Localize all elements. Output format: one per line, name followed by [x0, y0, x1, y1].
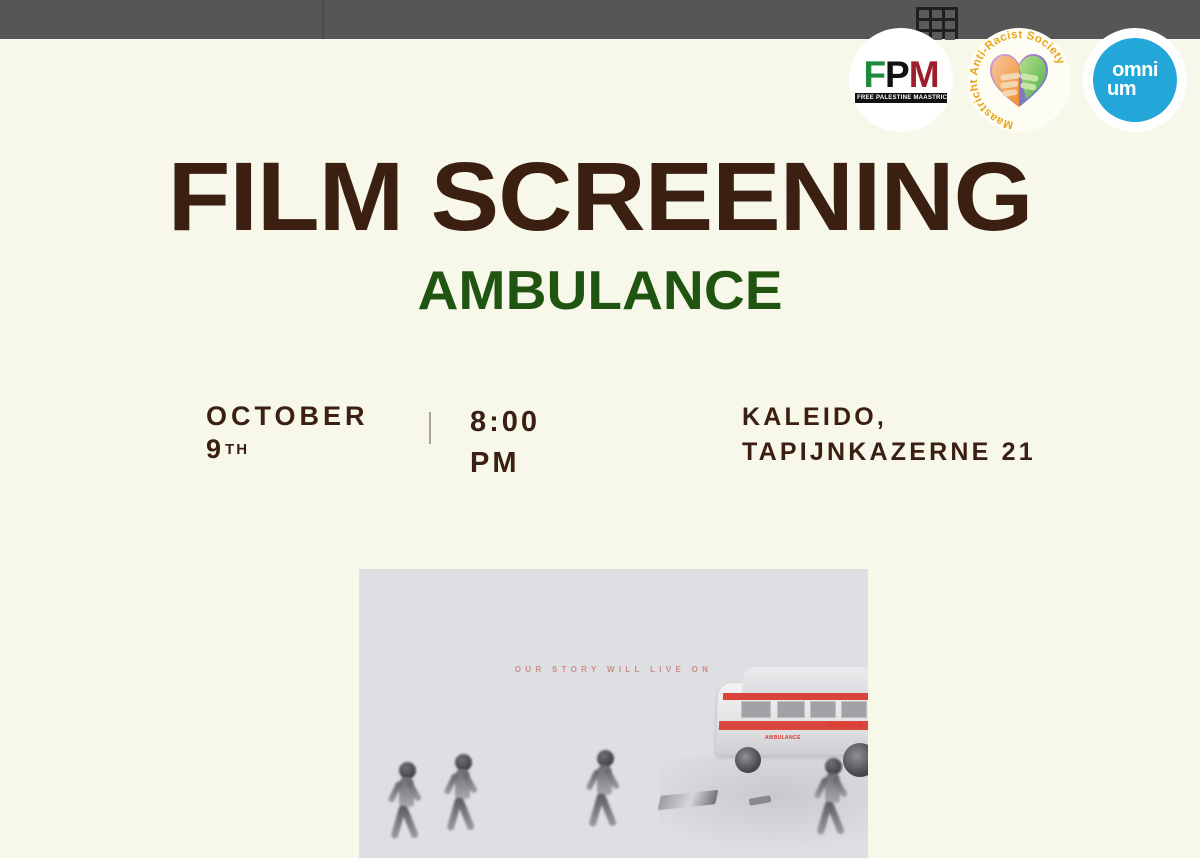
details-separator [429, 412, 431, 444]
film-still: OUR STORY WILL LIVE ON AMBULANCE AMBULAN… [359, 569, 868, 858]
event-date: OCTOBER 9TH [206, 400, 369, 466]
event-date-day: 9 [206, 434, 225, 464]
top-bar-divider [322, 0, 324, 39]
film-title: AMBULANCE [0, 263, 1200, 318]
handshake-heart-icon [988, 51, 1050, 109]
fpm-letter-p: P [885, 54, 909, 95]
running-child [815, 758, 867, 858]
fpm-caption: FREE PALESTINE MAASTRICHT [855, 93, 947, 103]
logo-fpm: FPM FREE PALESTINE MAASTRICHT [849, 28, 953, 132]
ambulance-label-left: AMBULANCE [765, 735, 801, 741]
running-child [587, 750, 639, 858]
running-child [445, 754, 497, 858]
page-title: FILM SCREENING [0, 148, 1200, 245]
organiser-logos: FPM FREE PALESTINE MAASTRICHT Maastricht… [845, 28, 1185, 136]
event-time: 8:00 PM [470, 402, 540, 484]
fpm-letter-m: M [909, 54, 939, 95]
event-details: OCTOBER 9TH 8:00 PM KALEIDO, TAPIJNKAZER… [0, 396, 1200, 491]
omnium-line2: um [1107, 80, 1136, 99]
event-date-month: OCTOBER [206, 401, 369, 431]
running-child [389, 762, 439, 858]
event-date-ordinal: TH [225, 441, 249, 458]
fpm-letter-f: F [863, 54, 885, 95]
fpm-letters: FPM [855, 58, 947, 92]
logo-omnium: omni um [1083, 28, 1187, 132]
logo-maastricht-anti-racist-society: Maastricht Anti-Racist Society [967, 28, 1071, 132]
event-venue: KALEIDO, TAPIJNKAZERNE 21 [742, 400, 1036, 470]
poster-page: FPM FREE PALESTINE MAASTRICHT Maastricht… [0, 0, 1200, 858]
ambulance-label-right: AMBULANCE [827, 723, 863, 729]
